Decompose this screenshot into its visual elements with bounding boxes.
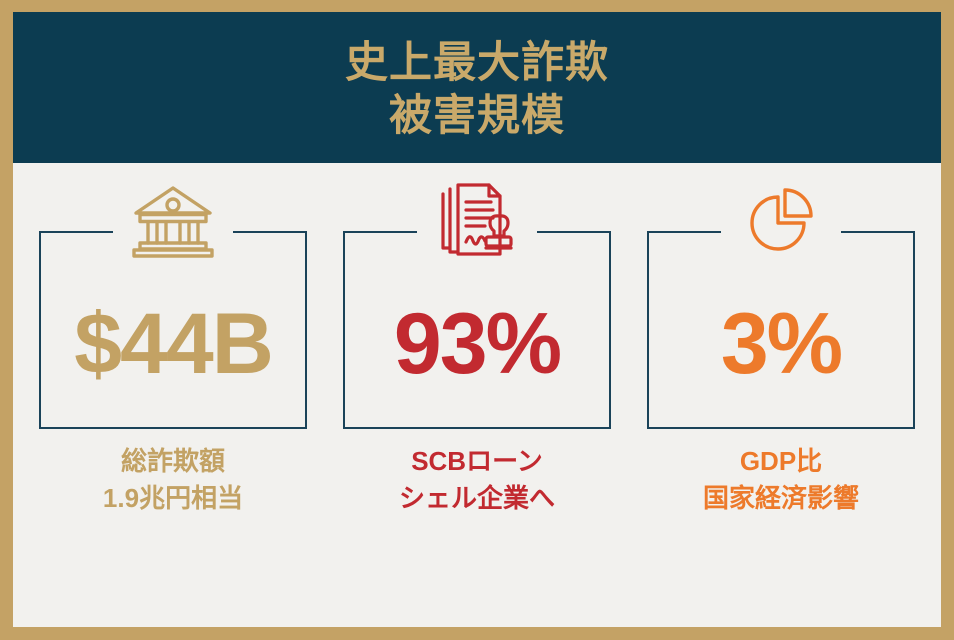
stat-caption-line-2: 1.9兆円相当 <box>103 480 243 517</box>
stat-caption-line-2: シェル企業へ <box>399 480 555 517</box>
stat-card-scb-loans: 93% SCBローン シェル企業へ <box>341 163 613 517</box>
stat-caption: GDP比 国家経済影響 <box>703 443 859 517</box>
stat-box: 3% <box>647 233 915 429</box>
stat-value: 3% <box>721 301 841 387</box>
stat-card-total-fraud: $44B 総詐欺額 1.9兆円相当 <box>37 163 309 517</box>
header-title-line-2: 被害規模 <box>389 91 565 142</box>
document-stamp-icon <box>427 183 527 259</box>
stat-caption-line-2: 国家経済影響 <box>703 480 859 517</box>
stats-row: $44B 総詐欺額 1.9兆円相当 <box>13 163 941 627</box>
pie-chart-icon <box>731 183 831 259</box>
stat-caption-line-1: 総詐欺額 <box>103 443 243 480</box>
stat-box: $44B <box>39 233 307 429</box>
stat-card-gdp-impact: 3% GDP比 国家経済影響 <box>645 163 917 517</box>
header-band: 史上最大詐欺 被害規模 <box>13 12 941 163</box>
stat-caption-line-1: SCBローン <box>399 443 555 480</box>
stat-value: $44B <box>74 301 272 387</box>
stat-caption: 総詐欺額 1.9兆円相当 <box>103 443 243 517</box>
header-title-line-1: 史上最大詐欺 <box>345 38 609 89</box>
stat-caption: SCBローン シェル企業へ <box>399 443 555 517</box>
stat-value: 93% <box>394 301 560 387</box>
infographic-root: 史上最大詐欺 被害規模 <box>0 0 954 640</box>
stat-box: 93% <box>343 233 611 429</box>
stat-caption-line-1: GDP比 <box>703 443 859 480</box>
bank-building-icon <box>123 183 223 259</box>
